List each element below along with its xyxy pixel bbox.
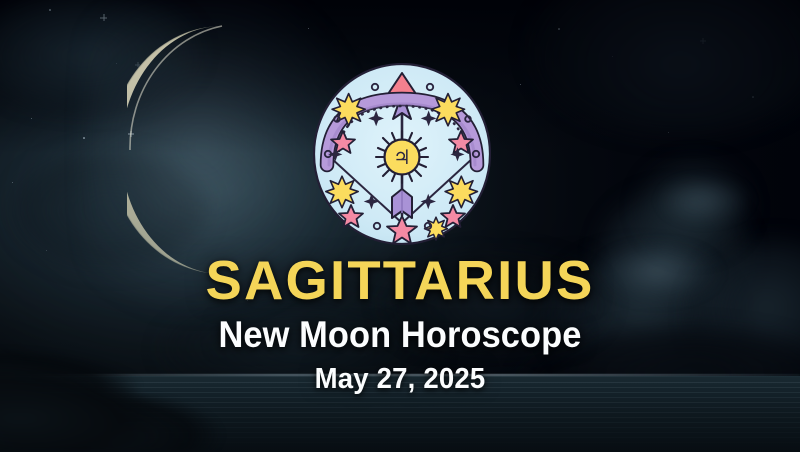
jupiter-sun-disc: ♃ — [376, 131, 428, 183]
sagittarius-zodiac-emblem: ♃ — [313, 63, 491, 245]
headline-block: SAGITTARIUS New Moon Horoscope May 27, 2… — [0, 252, 800, 394]
subtitle: New Moon Horoscope — [28, 316, 772, 355]
waxing-crescent-moon — [127, 24, 317, 276]
jupiter-glyph: ♃ — [393, 145, 411, 169]
horoscope-banner: ♃ — [0, 0, 800, 452]
date-text: May 27, 2025 — [20, 364, 780, 394]
page-title: SAGITTARIUS — [4, 252, 796, 308]
